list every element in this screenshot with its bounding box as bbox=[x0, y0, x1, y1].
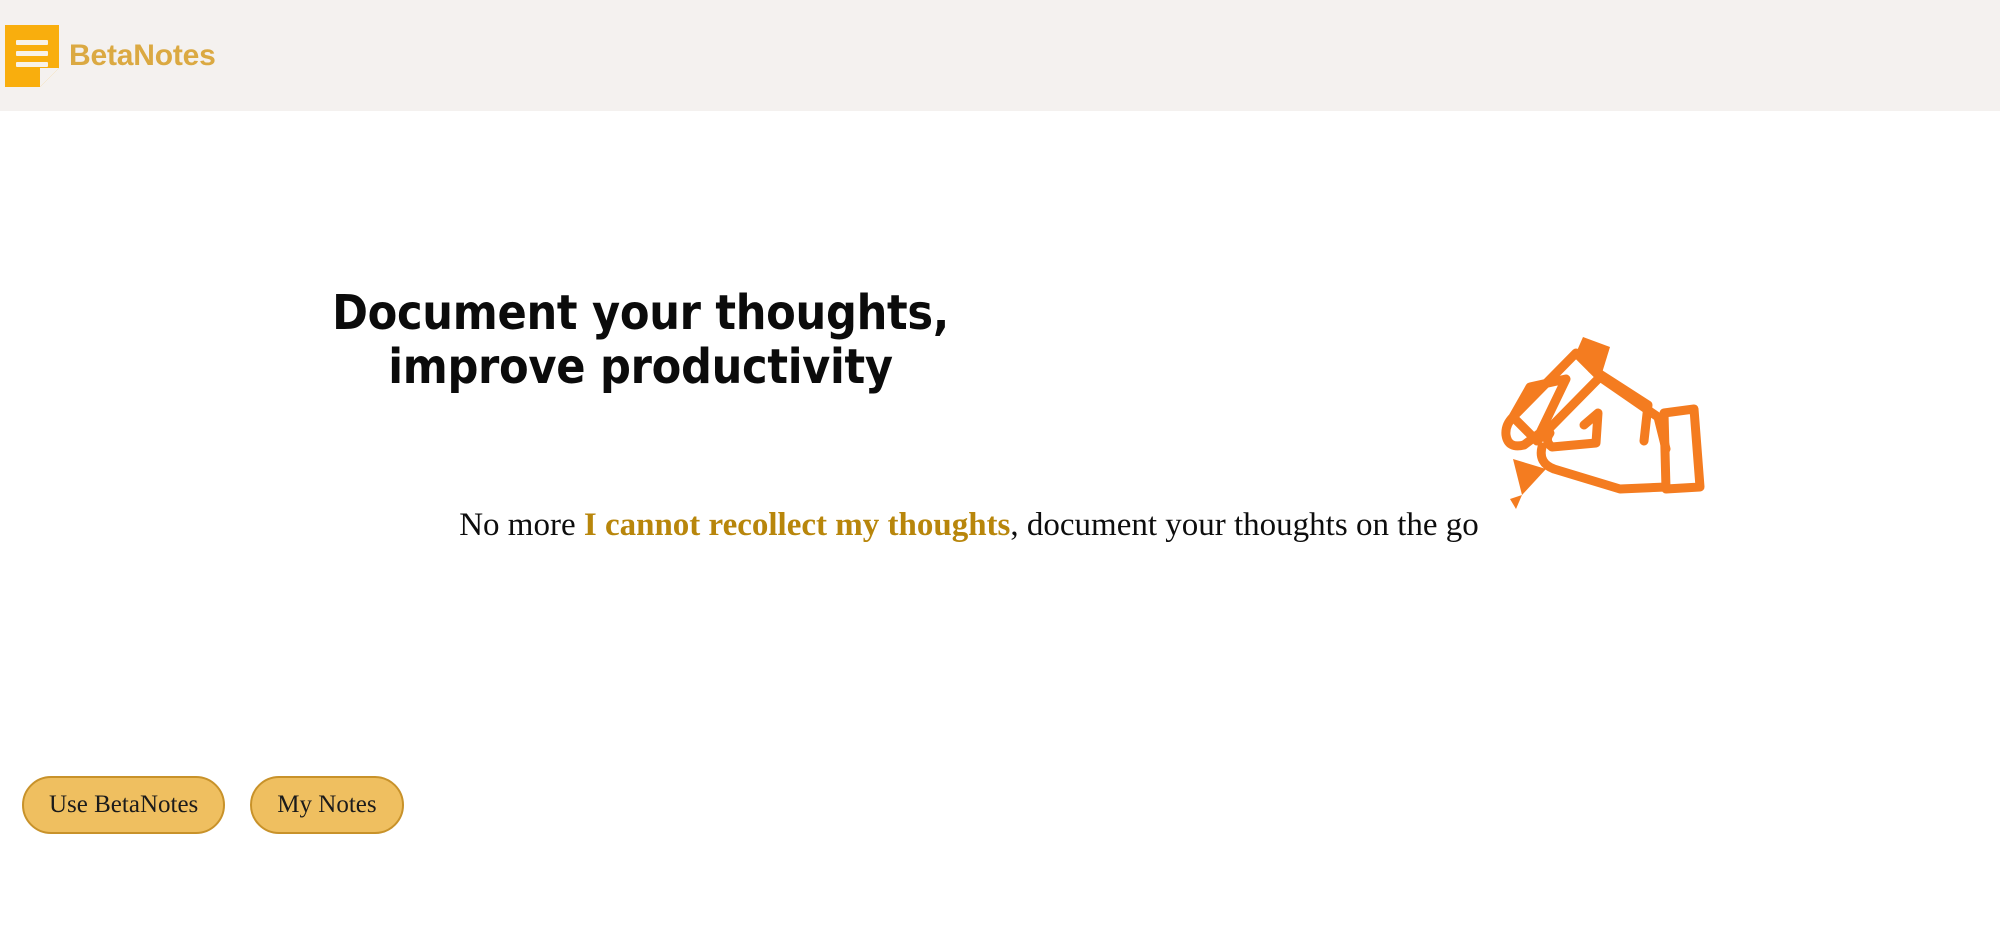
brand-name: BetaNotes bbox=[69, 41, 216, 71]
hero-action-buttons: Use BetaNotes My Notes bbox=[22, 776, 404, 834]
tagline-lead: No more bbox=[459, 507, 584, 543]
hero-tagline: No more I cannot recollect my thoughts, … bbox=[0, 504, 1938, 547]
tagline-accent: I cannot recollect my thoughts bbox=[584, 507, 1011, 543]
page-title: Document your thoughts, improve producti… bbox=[232, 287, 1049, 395]
document-lines-icon bbox=[5, 25, 59, 87]
hero-section: Document your thoughts, improve producti… bbox=[0, 111, 2000, 938]
use-betanotes-button[interactable]: Use BetaNotes bbox=[22, 776, 225, 834]
my-notes-button[interactable]: My Notes bbox=[250, 776, 403, 834]
tagline-trail: , document your thoughts on the go bbox=[1010, 507, 1478, 543]
hand-holding-pencil-icon bbox=[1480, 329, 1716, 529]
brand[interactable]: BetaNotes bbox=[0, 0, 216, 111]
top-navbar: BetaNotes bbox=[0, 0, 2000, 111]
